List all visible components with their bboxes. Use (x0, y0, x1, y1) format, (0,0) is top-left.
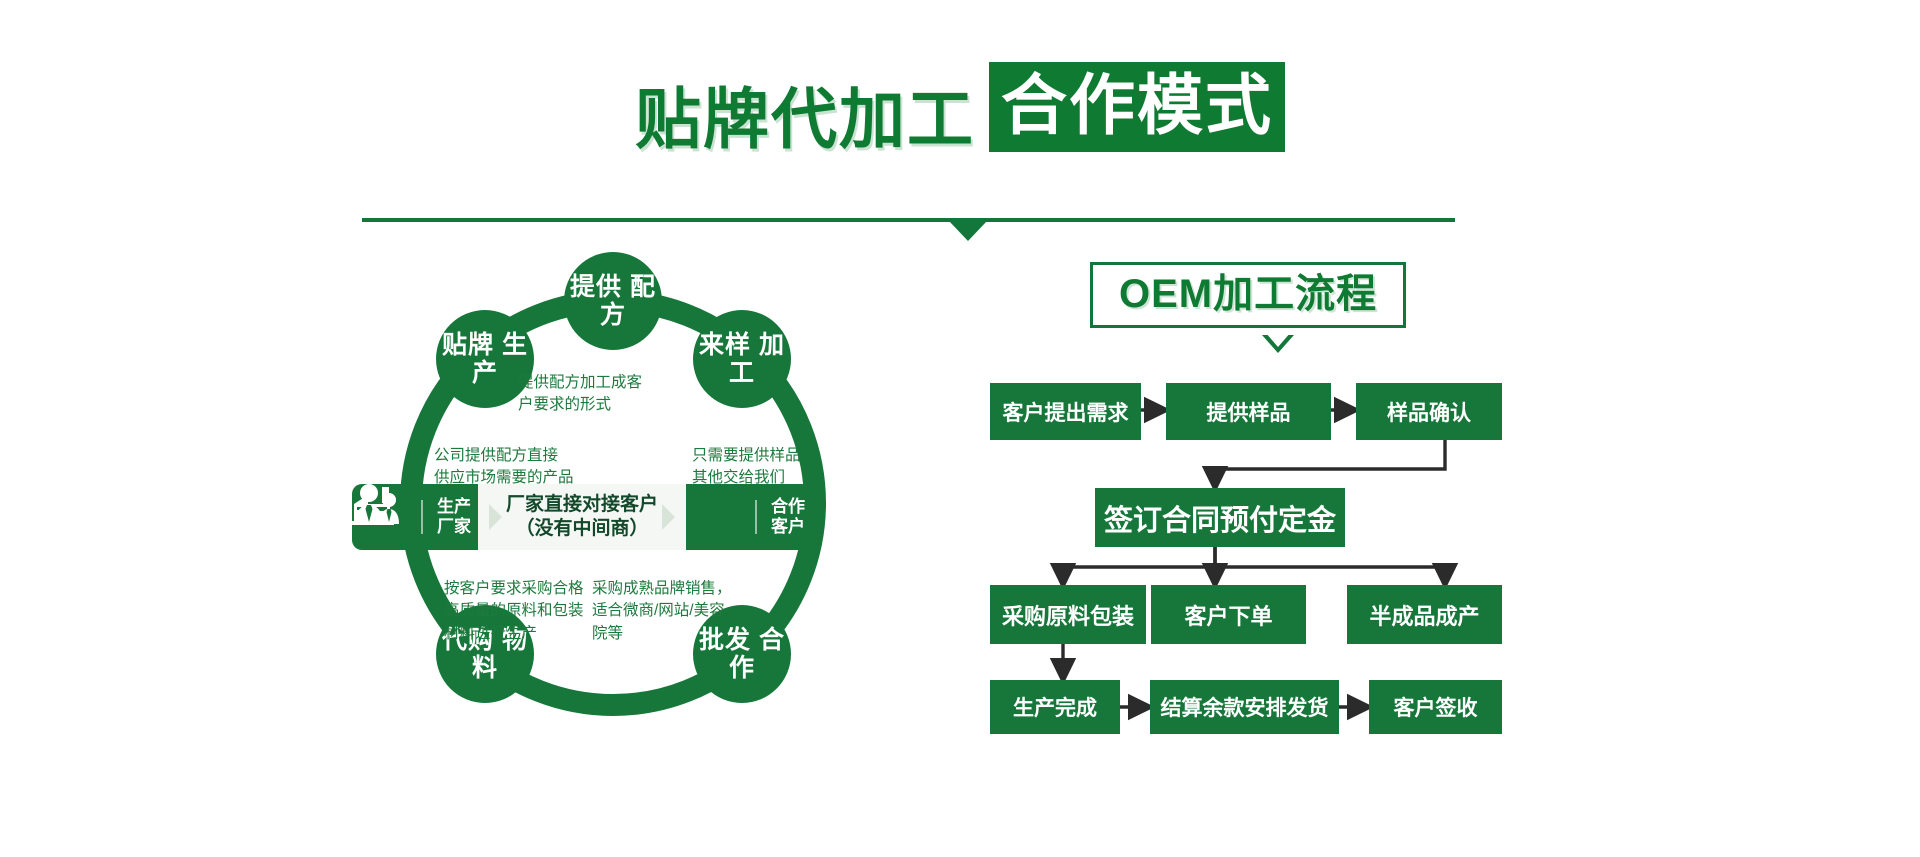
center-bar-divider-left (421, 500, 423, 534)
flow-box-settle-ship[interactable]: 结算余款安排发货 (1150, 680, 1339, 734)
center-bar-middle: 厂家直接对接客户 （没有中间商） (478, 484, 686, 550)
oem-flow-title: OEM加工流程 (1119, 272, 1377, 316)
header-divider-arrow-icon (949, 221, 987, 241)
center-bar-divider-right (755, 500, 757, 534)
flow-box-customer-receipt[interactable]: 客户签收 (1369, 680, 1502, 734)
cycle-desc-supply-formula: 提供配方加工成客 户要求的形式 (518, 372, 642, 417)
page-title-boxed: 合作模式 (989, 62, 1285, 152)
cycle-diagram: 生产 厂家 厂家直接对接客户 （没有中间商） (352, 252, 912, 772)
oem-title-notch-inner (1265, 332, 1291, 347)
infographic-root: 贴牌代加工 合作模式 (0, 0, 1920, 857)
oem-flowchart: OEM加工流程 客户提出需求 (990, 262, 1550, 782)
flow-box-sign-contract-deposit[interactable]: 签订合同预付定金 (1095, 488, 1345, 547)
flow-box-customer-order[interactable]: 客户下单 (1151, 585, 1306, 644)
chevron-right-icon (489, 504, 502, 530)
flow-box-purchase-materials[interactable]: 采购原料包装 (990, 585, 1146, 644)
flow-box-production-complete[interactable]: 生产完成 (990, 680, 1120, 734)
center-bar: 生产 厂家 厂家直接对接客户 （没有中间商） (352, 484, 812, 550)
center-bar-middle-text: 厂家直接对接客户 （没有中间商） (506, 493, 658, 541)
flow-box-provide-sample[interactable]: 提供样品 (1166, 383, 1331, 440)
flow-box-semi-finished[interactable]: 半成品成产 (1347, 585, 1502, 644)
chevron-right-icon-2 (662, 504, 675, 530)
cycle-desc-oem-production: 公司提供配方直接 供应市场需要的产品 (434, 445, 574, 490)
oem-flow-title-box: OEM加工流程 (1090, 262, 1406, 328)
flow-box-customer-request[interactable]: 客户提出需求 (990, 383, 1141, 440)
cycle-desc-material-purchase: 按客户要求采购合格 高质量的原料和包装 材料进行生产 (444, 578, 584, 645)
cycle-desc-wholesale-cooperation: 采购成熟品牌销售， 适合微商/网站/美容 院等 (592, 578, 732, 645)
cycle-node-sample-processing[interactable]: 来样 加工 (693, 310, 791, 408)
header-divider (362, 218, 1455, 222)
page-title: 贴牌代加工 合作模式 (0, 62, 1920, 152)
flow-box-sample-confirm[interactable]: 样品确认 (1356, 383, 1502, 440)
center-bar-right-label: 合作 客户 (764, 497, 812, 537)
page-title-plain: 贴牌代加工 (635, 86, 975, 152)
cycle-desc-sample-processing: 只需要提供样品 其他交给我们 (692, 445, 801, 490)
cycle-node-supply-formula[interactable]: 提供 配方 (564, 252, 662, 350)
center-bar-left-label: 生产 厂家 (430, 497, 478, 537)
